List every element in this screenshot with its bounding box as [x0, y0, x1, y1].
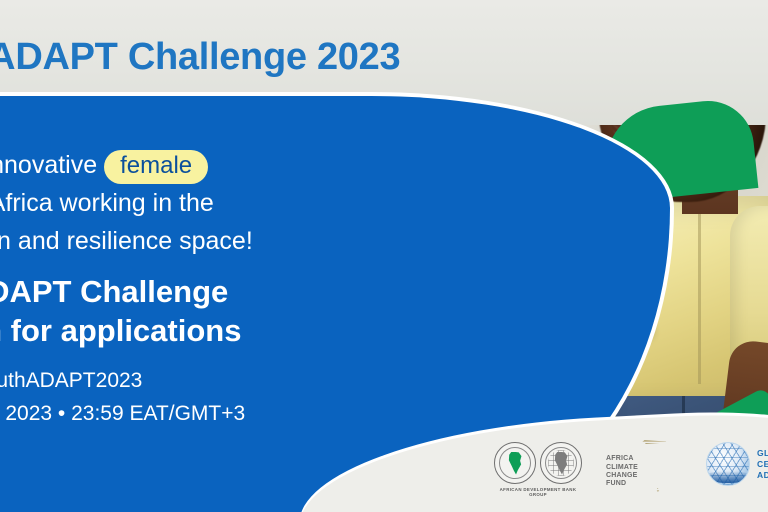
- body-line-1: oung innovative female: [0, 146, 442, 184]
- body-copy: oung innovative female urs in Africa wor…: [0, 146, 442, 260]
- accf-line-3: CHANGE: [606, 472, 638, 479]
- subheadline-line-2: open for applications: [0, 311, 448, 350]
- accf-line-2: CLIMATE: [606, 464, 638, 471]
- accf-line-1: AFRICA: [606, 455, 634, 462]
- body-line-1-text: oung innovative: [0, 151, 104, 179]
- poster-canvas: uthADAPT Challenge 2023 oung innovative …: [0, 0, 768, 512]
- deadline-text: ember 2023 • 23:59 EAT/GMT+3: [0, 397, 460, 430]
- accf-logo: AFRICA CLIMATE CHANGE FUND: [606, 442, 684, 490]
- logo-row: AFRICAN DEVELOPMENT BANK GROUP AFRICA CL…: [492, 442, 768, 497]
- afdb-logo: AFRICAN DEVELOPMENT BANK GROUP: [492, 442, 584, 497]
- afdb-seal-green-icon: [494, 442, 536, 484]
- accf-wordmark: AFRICA CLIMATE CHANGE FUND: [606, 455, 638, 489]
- africa-map-icon: [507, 452, 524, 475]
- afdb-seals: [492, 442, 584, 484]
- application-url[interactable]: t.ly/YouthADAPT2023: [0, 364, 460, 397]
- gca-wordmark: GLOBAL CENTER ON ADAPTATIO: [757, 448, 768, 481]
- afdb-seal-grey-icon: [540, 442, 582, 484]
- body-line-2: urs in Africa working in the: [0, 184, 442, 222]
- page-title: uthADAPT Challenge 2023: [0, 36, 400, 79]
- gca-line-2: CENTER ON: [757, 459, 768, 469]
- meta-block: t.ly/YouthADAPT2023 ember 2023 • 23:59 E…: [0, 364, 460, 430]
- gca-logo: GLOBAL CENTER ON ADAPTATIO: [706, 442, 768, 486]
- gca-line-3: ADAPTATIO: [757, 470, 768, 480]
- globe-network-icon: [706, 442, 750, 486]
- subheadline: th ADAPT Challenge open for applications: [0, 272, 448, 350]
- subheadline-line-1: th ADAPT Challenge: [0, 272, 448, 311]
- gca-line-1: GLOBAL: [757, 448, 768, 458]
- africa-outline-icon: [632, 440, 680, 492]
- female-pill: female: [104, 150, 208, 184]
- afdb-caption: AFRICAN DEVELOPMENT BANK GROUP: [492, 487, 584, 497]
- body-line-3: aptation and resilience space!: [0, 222, 442, 260]
- accf-line-4: FUND: [606, 480, 626, 487]
